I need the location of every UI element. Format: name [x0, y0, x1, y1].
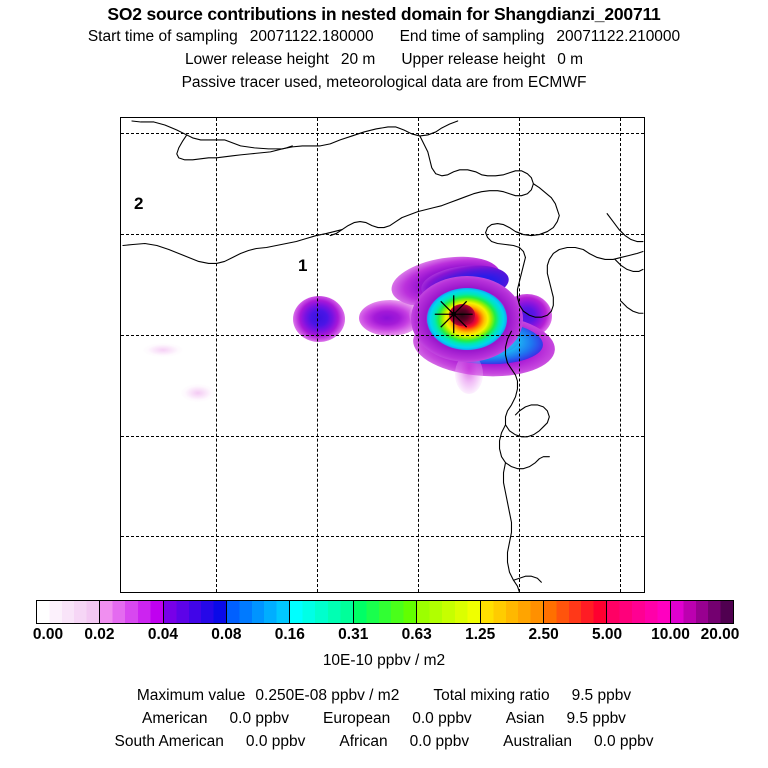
start-time-label: Start time of sampling: [88, 25, 238, 48]
colorbar-segment: [481, 601, 544, 623]
upper-release-label: Upper release height: [401, 48, 545, 71]
colorbar-unit-label: 10E-10 ppbv / m2: [0, 652, 768, 670]
plot-header: SO2 source contributions in nested domai…: [0, 0, 768, 94]
summary-row: Maximum value0.250E-08 ppbv / m2Total mi…: [0, 684, 768, 707]
region-row-south: South American0.0 ppbvAfrican0.0 ppbvAus…: [0, 730, 768, 753]
region-name-asian: Asian: [506, 710, 545, 727]
region-name-european: European: [323, 710, 390, 727]
total-mixing-ratio-label: Total mixing ratio: [433, 687, 549, 704]
colorbar-segment: [290, 601, 353, 623]
start-time-value: 20071122.180000: [250, 25, 374, 48]
colorbar-tick-label: 5.00: [592, 626, 622, 644]
colorbar-tick-label: 0.04: [148, 626, 178, 644]
release-site-center-dot: [451, 312, 456, 317]
statistics-footer: Maximum value0.250E-08 ppbv / m2Total mi…: [0, 684, 768, 753]
colorbar-segment: [417, 601, 480, 623]
colorbar-tick-label: 1.25: [465, 626, 495, 644]
colorbar-tick-label: 0.08: [211, 626, 241, 644]
upper-release-value: 0 m: [557, 48, 583, 71]
colorbar-tick-label: 10.00: [651, 626, 690, 644]
region-name-african: African: [339, 733, 387, 750]
lower-release-value: 20 m: [341, 48, 375, 71]
region-name-australian: Australian: [503, 733, 572, 750]
release-site-marker: [121, 118, 644, 592]
colorbar-tick-labels: 0.000.020.040.080.160.310.631.252.505.00…: [0, 626, 768, 646]
colorbar-segment: [607, 601, 670, 623]
flexpart-plot-page: SO2 source contributions in nested domai…: [0, 0, 768, 768]
colorbar-tick-label: 0.31: [338, 626, 368, 644]
end-time-label: End time of sampling: [400, 25, 545, 48]
region-value-american: 0.0 ppbv: [230, 710, 289, 727]
page-title: SO2 source contributions in nested domai…: [0, 0, 768, 25]
colorbar[interactable]: [36, 600, 734, 624]
region-name-american: American: [142, 710, 207, 727]
tracer-note: Passive tracer used, meteorological data…: [0, 71, 768, 94]
colorbar-segment: [354, 601, 417, 623]
region-row-north: American0.0 ppbvEuropean0.0 ppbvAsian9.5…: [0, 707, 768, 730]
maximum-value-label: Maximum value: [137, 687, 246, 704]
colorbar-tick-label: 0.16: [275, 626, 305, 644]
region-value-asian: 9.5 ppbv: [566, 710, 625, 727]
region-name-south-american: South American: [114, 733, 223, 750]
region-value-african: 0.0 ppbv: [410, 733, 469, 750]
region-value-south-american: 0.0 ppbv: [246, 733, 305, 750]
colorbar-tick-label: 20.00: [701, 626, 740, 644]
map-clip-region: 2 1: [121, 118, 644, 592]
colorbar-segment: [37, 601, 100, 623]
end-time-value: 20071122.210000: [556, 25, 680, 48]
total-mixing-ratio-value: 9.5 ppbv: [572, 687, 631, 704]
colorbar-segment: [100, 601, 163, 623]
colorbar-tick-label: 2.50: [529, 626, 559, 644]
region-value-european: 0.0 ppbv: [412, 710, 471, 727]
colorbar-segment: [544, 601, 607, 623]
release-height-row: Lower release height20 mUpper release he…: [0, 48, 768, 71]
colorbar-tick-label: 0.02: [84, 626, 114, 644]
sampling-time-row: Start time of sampling20071122.180000End…: [0, 25, 768, 48]
colorbar-segment: [164, 601, 227, 623]
colorbar-segment: [227, 601, 290, 623]
colorbar-segment: [671, 601, 733, 623]
map-plot-panel[interactable]: 2 1: [120, 117, 645, 593]
colorbar-tick-label: 0.63: [402, 626, 432, 644]
lower-release-label: Lower release height: [185, 48, 329, 71]
region-value-australian: 0.0 ppbv: [594, 733, 653, 750]
colorbar-gradient-strip: [36, 600, 734, 624]
colorbar-tick-label: 0.00: [33, 626, 63, 644]
maximum-value: 0.250E-08 ppbv / m2: [255, 687, 399, 704]
